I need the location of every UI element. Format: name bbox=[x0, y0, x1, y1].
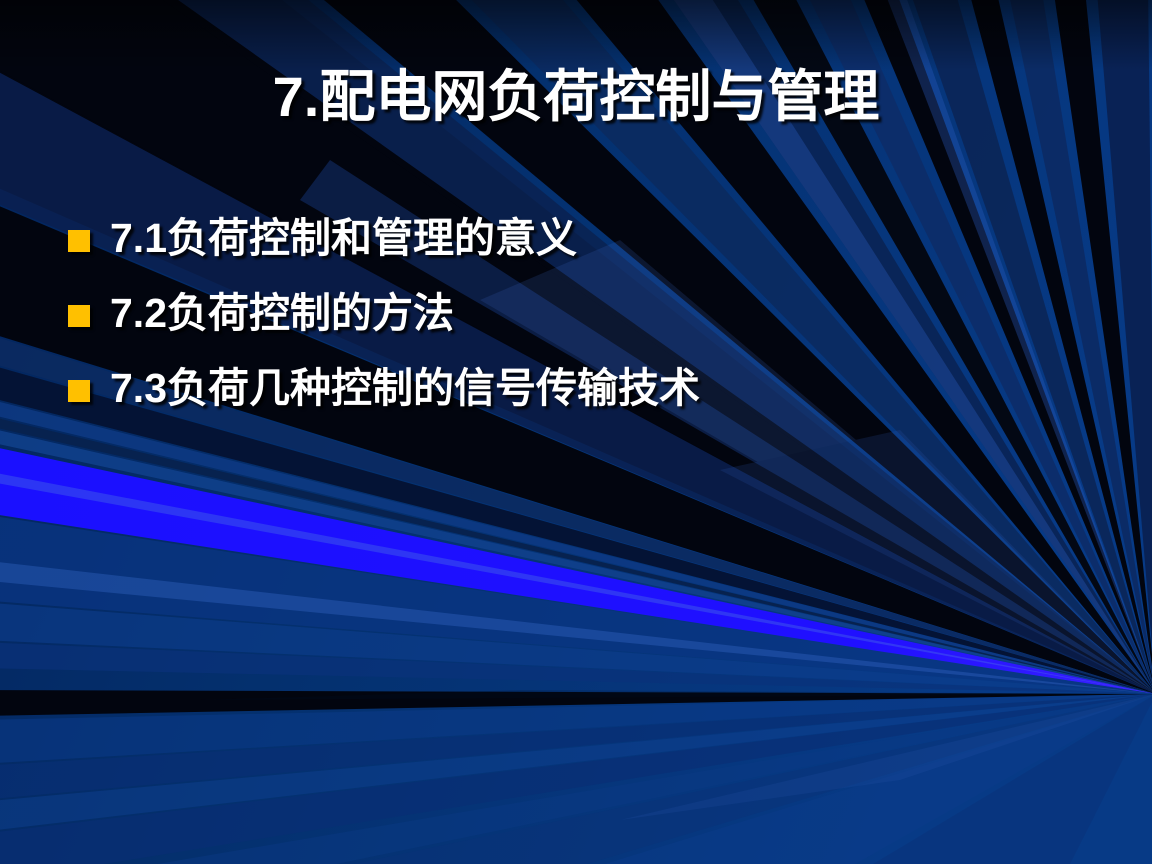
list-item-label: 7.2负荷控制的方法 bbox=[110, 291, 454, 336]
list-item-label: 7.1负荷控制和管理的意义 bbox=[110, 216, 577, 261]
bullet-list: 7.1负荷控制和管理的意义 7.2负荷控制的方法 7.3负荷几种控制的信号传输技… bbox=[68, 208, 1078, 433]
page-title: 7.配电网负荷控制与管理 bbox=[0, 66, 1152, 128]
list-item[interactable]: 7.2负荷控制的方法 bbox=[68, 283, 1078, 345]
square-bullet-icon bbox=[68, 380, 90, 402]
list-item-label: 7.3负荷几种控制的信号传输技术 bbox=[110, 366, 700, 411]
list-item[interactable]: 7.1负荷控制和管理的意义 bbox=[68, 208, 1078, 270]
list-item[interactable]: 7.3负荷几种控制的信号传输技术 bbox=[68, 358, 1078, 420]
square-bullet-icon bbox=[68, 230, 90, 252]
square-bullet-icon bbox=[68, 305, 90, 327]
presentation-slide: 7.配电网负荷控制与管理 7.1负荷控制和管理的意义 7.2负荷控制的方法 7.… bbox=[0, 0, 1152, 864]
slide-content: 7.配电网负荷控制与管理 7.1负荷控制和管理的意义 7.2负荷控制的方法 7.… bbox=[0, 0, 1152, 864]
